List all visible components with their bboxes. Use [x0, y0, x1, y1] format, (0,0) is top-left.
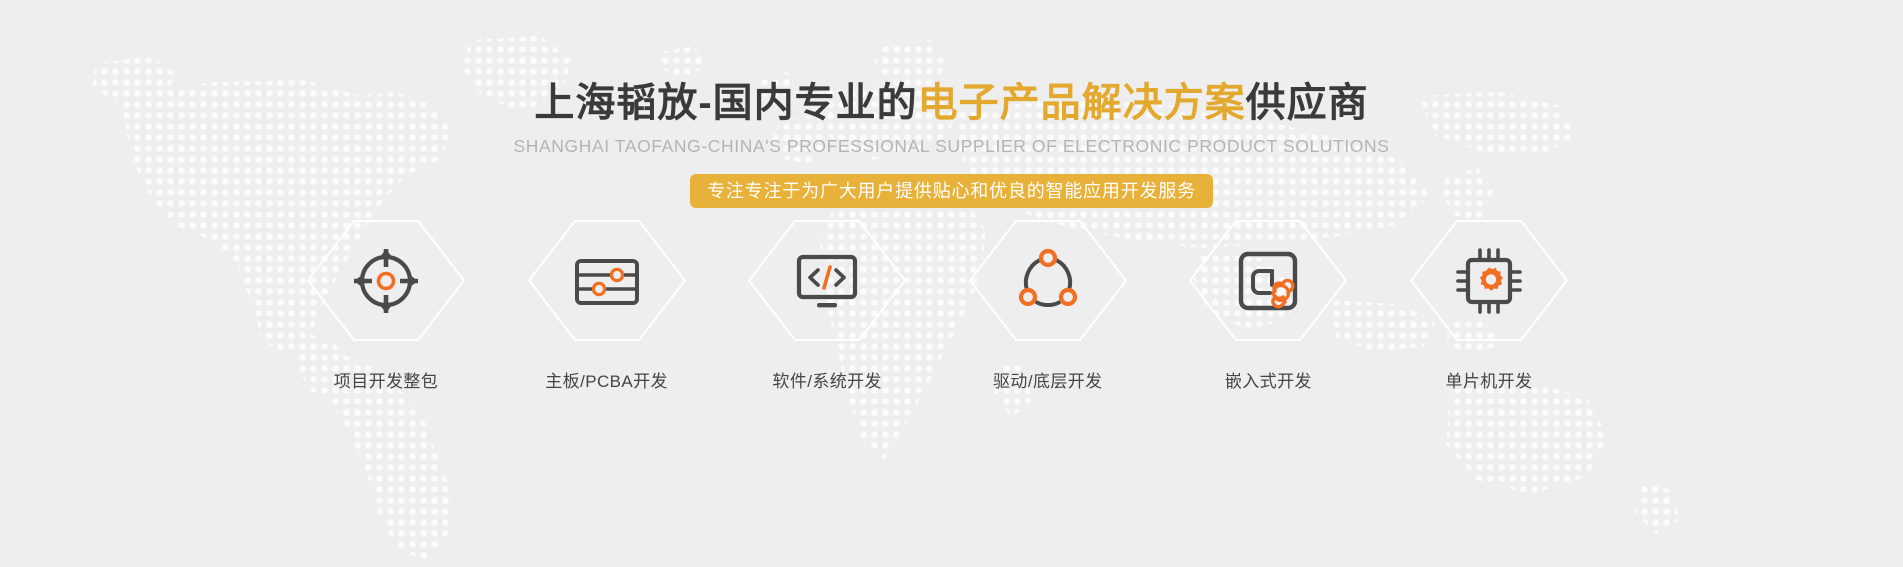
crosshair-target-icon	[350, 245, 422, 317]
page-title: 上海韬放-国内专业的电子产品解决方案供应商	[0, 78, 1903, 128]
hexagon-frame	[1409, 219, 1569, 342]
feature-label: 驱动/底层开发	[968, 367, 1128, 392]
feature-item-project-package[interactable]: 项目开发整包	[306, 219, 466, 449]
circuit-board-icon	[571, 245, 643, 317]
hexagon-frame	[968, 219, 1128, 342]
hexagon-frame	[1188, 219, 1348, 342]
node-network-icon	[1012, 245, 1084, 317]
title-prefix: 上海韬放-国内专业的	[534, 81, 917, 125]
feature-item-mcu[interactable]: 单片机开发	[1409, 219, 1569, 449]
microchip-gear-icon	[1453, 245, 1525, 317]
embedded-link-icon	[1232, 245, 1304, 317]
feature-label: 软件/系统开发	[747, 367, 907, 392]
feature-label: 单片机开发	[1409, 367, 1569, 392]
monitor-code-icon	[791, 245, 863, 317]
feature-item-pcba[interactable]: 主板/PCBA开发	[527, 219, 687, 449]
hexagon-frame	[527, 219, 687, 342]
headline-block: 上海韬放-国内专业的电子产品解决方案供应商 SHANGHAI TAOFANG-C…	[0, 0, 1903, 208]
tagline-badge-row: 专注专注于为广大用户提供贴心和优良的智能应用开发服务	[0, 174, 1903, 208]
hexagon-frame	[747, 219, 907, 342]
hero-banner: 上海韬放-国内专业的电子产品解决方案供应商 SHANGHAI TAOFANG-C…	[0, 0, 1903, 567]
hexagon-frame	[306, 219, 466, 342]
feature-item-embedded[interactable]: 嵌入式开发	[1188, 219, 1348, 449]
title-accent: 电子产品解决方案	[918, 81, 1246, 125]
feature-label: 项目开发整包	[306, 367, 466, 392]
feature-item-driver[interactable]: 驱动/底层开发	[968, 219, 1128, 449]
page-subtitle: SHANGHAI TAOFANG-CHINA'S PROFESSIONAL SU…	[0, 135, 1903, 157]
title-suffix: 供应商	[1246, 81, 1369, 125]
feature-label: 主板/PCBA开发	[527, 367, 687, 392]
tagline-badge: 专注专注于为广大用户提供贴心和优良的智能应用开发服务	[690, 174, 1213, 208]
feature-item-software[interactable]: 软件/系统开发	[747, 219, 907, 449]
feature-label: 嵌入式开发	[1188, 367, 1348, 392]
feature-list: 项目开发整包 主板/PCBA开发	[306, 219, 1569, 449]
